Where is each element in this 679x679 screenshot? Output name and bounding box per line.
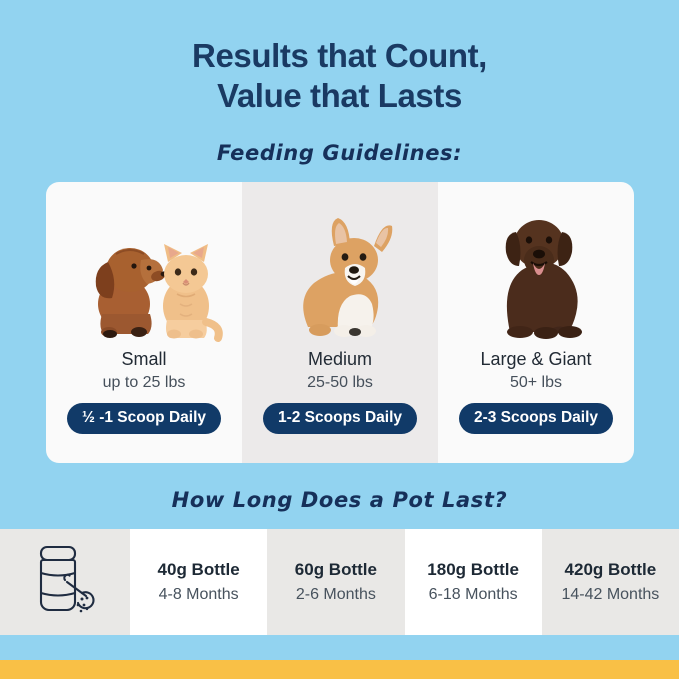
bottle-size: 60g Bottle <box>295 559 377 581</box>
bottle-size: 180g Bottle <box>427 559 519 581</box>
feeding-guidelines-card: Small up to 25 lbs ½ -1 Scoop Daily <box>46 182 634 463</box>
bottle-duration: 14-42 Months <box>561 584 659 606</box>
pot-duration-strip: 40g Bottle 4-8 Months 60g Bottle 2-6 Mon… <box>0 529 679 635</box>
feeding-column-medium: Medium 25-50 lbs 1-2 Scoops Daily <box>242 182 438 463</box>
feeding-column-large: Large & Giant 50+ lbs 2-3 Scoops Daily <box>438 182 634 463</box>
jar-icon-cell <box>0 529 130 635</box>
headline-line-2: Value that Lasts <box>0 76 679 116</box>
bottle-cell-60g: 60g Bottle 2-6 Months <box>267 529 404 635</box>
bottle-cell-40g: 40g Bottle 4-8 Months <box>130 529 267 635</box>
bottle-duration: 2-6 Months <box>296 584 376 606</box>
bottle-size: 40g Bottle <box>158 559 240 581</box>
page-title: Results that Count, Value that Lasts <box>0 36 679 116</box>
pot-duration-heading: How Long Does a Pot Last? <box>0 487 679 513</box>
bottle-duration: 6-18 Months <box>429 584 518 606</box>
feeding-column-small: Small up to 25 lbs ½ -1 Scoop Daily <box>46 182 242 463</box>
bottom-blue-band <box>0 635 679 660</box>
dose-badge: 1-2 Scoops Daily <box>263 403 417 434</box>
bottle-duration: 4-8 Months <box>159 584 239 606</box>
bottom-yellow-band <box>0 660 679 679</box>
corgi-photo <box>242 182 438 347</box>
size-weight: 50+ lbs <box>510 372 562 394</box>
size-label: Medium <box>308 348 372 370</box>
infographic-page: Results that Count, Value that Lasts Fee… <box>0 0 679 679</box>
dose-badge: 2-3 Scoops Daily <box>459 403 613 434</box>
dachshund-and-kitten-photo <box>46 182 242 347</box>
jar-with-scoop-icon <box>29 541 101 624</box>
headline-line-1: Results that Count, <box>0 36 679 76</box>
dose-badge: ½ -1 Scoop Daily <box>67 403 221 434</box>
bottle-size: 420g Bottle <box>565 559 657 581</box>
size-label: Large & Giant <box>480 348 591 370</box>
feeding-guidelines-heading: Feeding Guidelines: <box>0 140 679 166</box>
size-weight: 25-50 lbs <box>307 372 373 394</box>
size-label: Small <box>121 348 166 370</box>
size-weight: up to 25 lbs <box>103 372 186 394</box>
chocolate-labrador-photo <box>438 182 634 347</box>
bottle-cell-180g: 180g Bottle 6-18 Months <box>405 529 542 635</box>
bottle-cell-420g: 420g Bottle 14-42 Months <box>542 529 679 635</box>
